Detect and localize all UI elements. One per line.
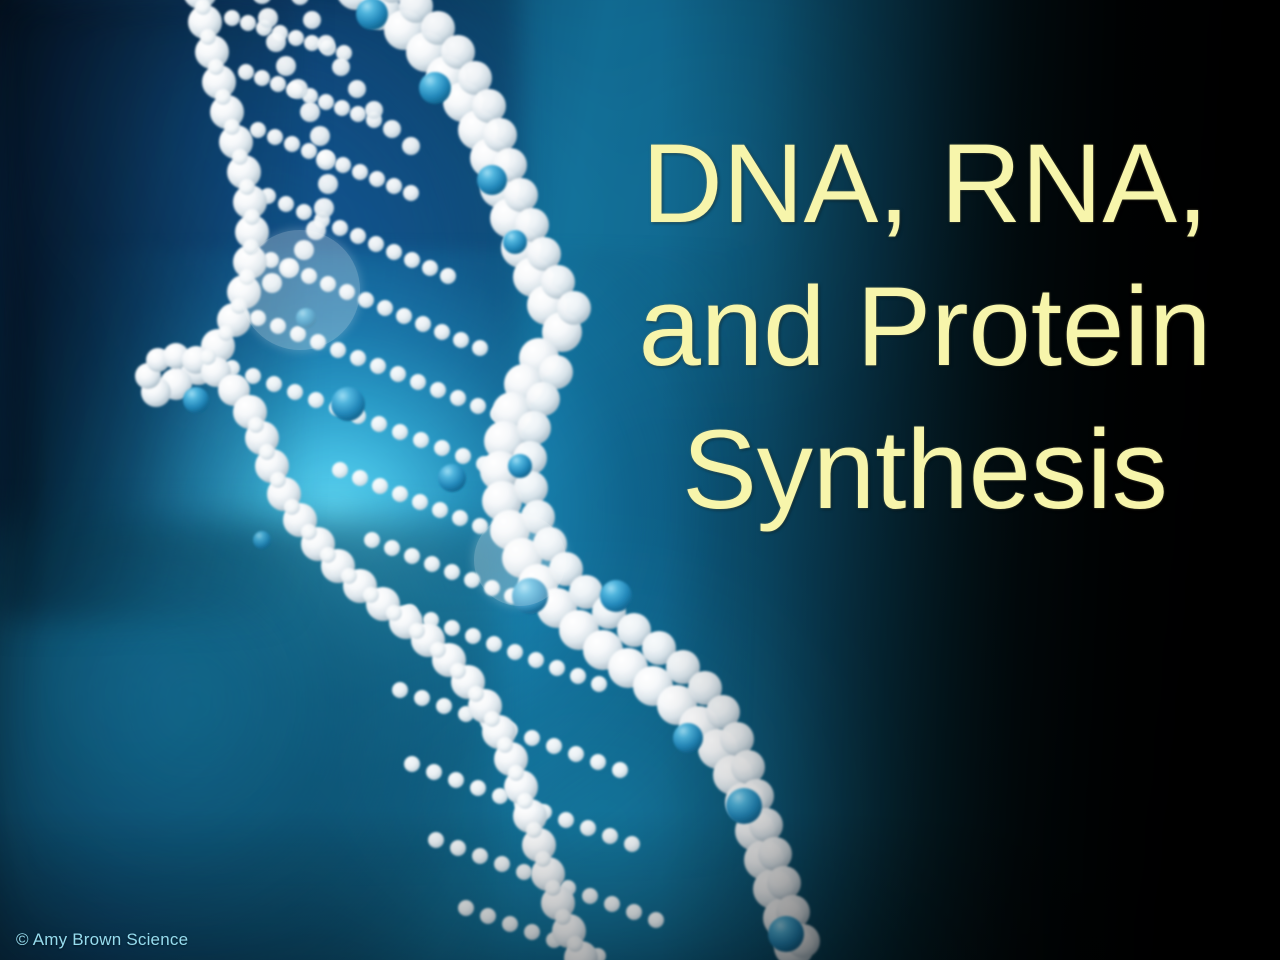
title-line-1: DNA, RNA, <box>600 112 1250 255</box>
presentation-slide: DNA, RNA, and Protein Synthesis © Amy Br… <box>0 0 1280 960</box>
copyright-credit: © Amy Brown Science <box>16 930 188 950</box>
slide-title: DNA, RNA, and Protein Synthesis <box>600 112 1250 541</box>
background-bottom-shade <box>0 810 1280 960</box>
title-line-3: Synthesis <box>600 398 1250 541</box>
title-line-2: and Protein <box>600 255 1250 398</box>
